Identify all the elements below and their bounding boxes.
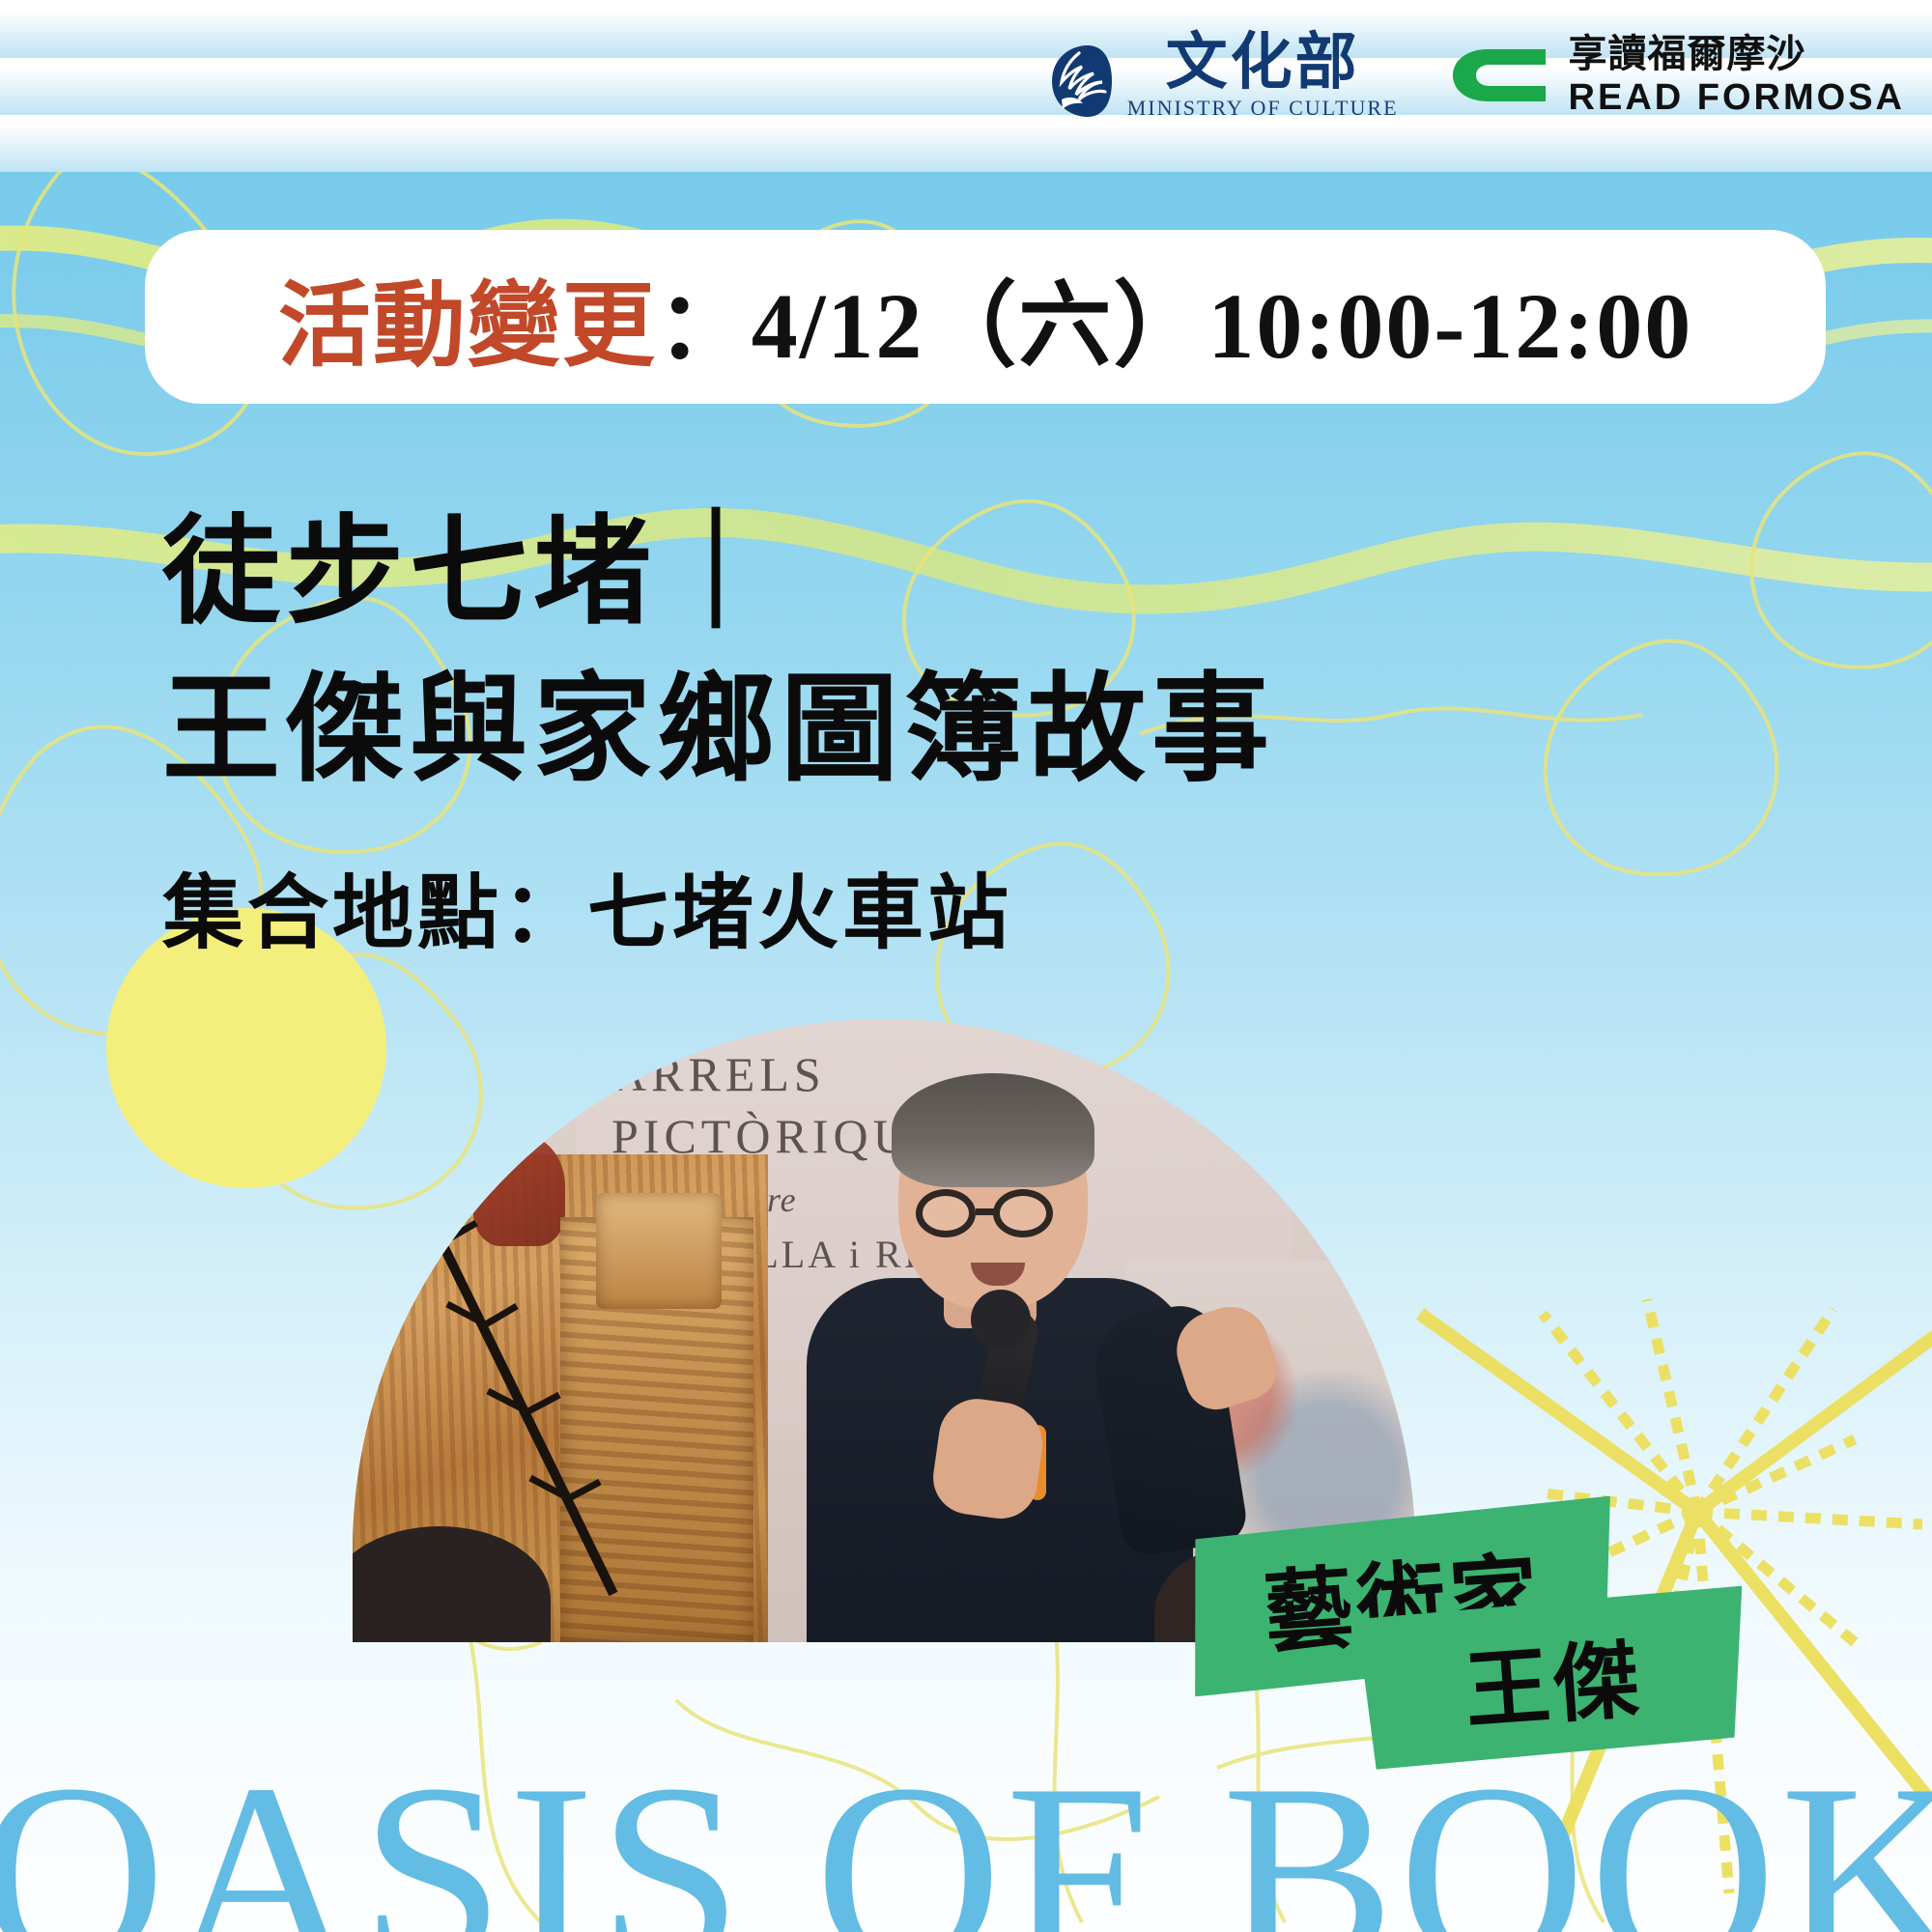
ministry-logo-chinese: 文化部 (1166, 32, 1360, 94)
ministry-logo-english: MINISTRY OF CULTURE (1127, 98, 1399, 119)
event-change-detail: 4/12（六）10:00-12:00 (752, 274, 1693, 378)
headline-line-1: 徒步七堵｜ (162, 502, 1275, 646)
logo-row: 文化部 MINISTRY OF CULTURE 享讀福爾摩沙 READ FORM… (1046, 25, 1905, 126)
artist-name-tag-label: 王傑 (1461, 1610, 1646, 1746)
read-formosa-logo: 享讀福爾摩沙 READ FORMOSA (1449, 34, 1905, 118)
read-formosa-words: 享讀福爾摩沙 READ FORMOSA (1569, 34, 1905, 118)
speaker-hair (892, 1073, 1094, 1187)
headline-block: 徒步七堵｜ 王傑與家鄉圖簿故事 集合地點：七堵火車站 (162, 502, 1275, 965)
speaker-glasses-bridge (976, 1208, 995, 1215)
meeting-point-text: 集合地點：七堵火車站 (162, 848, 1275, 965)
speaker-glasses-left (916, 1189, 976, 1237)
event-change-banner: 活動變更：4/12（六）10:00-12:00 (145, 230, 1826, 404)
speaker-glasses-right (993, 1189, 1053, 1237)
oasis-of-books-wordmark: OASIS OF BOOKS (0, 1745, 1932, 1932)
headline-line-2: 王傑與家鄉圖簿故事 (162, 660, 1275, 804)
ministry-of-culture-logo: 文化部 MINISTRY OF CULTURE (1046, 32, 1399, 119)
event-change-separator: ： (657, 274, 752, 378)
event-change-label: 活動變更 (278, 274, 657, 378)
read-formosa-english: READ FORMOSA (1569, 79, 1905, 118)
poster-canvas: 文化部 MINISTRY OF CULTURE 享讀福爾摩沙 READ FORM… (0, 0, 1932, 1932)
event-change-text: 活動變更：4/12（六）10:00-12:00 (278, 250, 1693, 384)
read-formosa-chinese: 享讀福爾摩沙 (1569, 34, 1905, 74)
read-formosa-c-icon (1449, 45, 1551, 105)
ministry-logo-words: 文化部 MINISTRY OF CULTURE (1127, 32, 1399, 119)
ministry-orchid-icon (1046, 43, 1114, 119)
